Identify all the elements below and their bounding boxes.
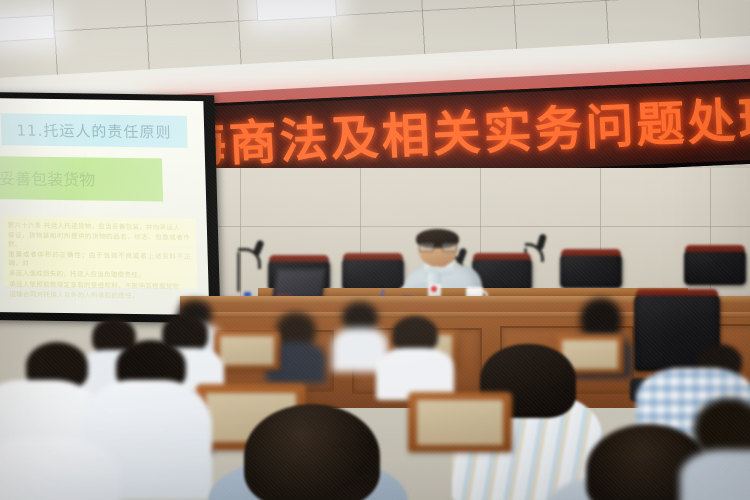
slide-body-line: 承运人造成损失的，托运人应当负赔偿责任。 <box>9 269 192 280</box>
slide-body-line: 承运人依照前款规定享有的受偿权利，不影响其根据货物 <box>9 280 192 291</box>
slide-subtitle-text: ①妥善包装货物 <box>0 165 96 191</box>
ceiling-lamp <box>0 15 55 43</box>
slide-title-band: 11.托运人的责任原则 <box>1 113 188 148</box>
slide-body-line: 保证，货物装船时所提供的货物的品名、标志、包数或者件数、 <box>8 231 191 251</box>
slide-body-line: 第六十六条 托运人托运货物，应当妥善包装，并向承运人 <box>7 221 190 232</box>
conference-hall-photo: 海商法及相关实务问题处理讲座 11.托运人的责任原则 ①妥善包装货物 第六十六条… <box>0 0 750 500</box>
audience-chair <box>214 330 280 370</box>
projection-screen-surface: 11.托运人的责任原则 ①妥善包装货物 第六十六条 托运人托运货物，应当妥善包装… <box>0 98 209 315</box>
slide-body-band: 第六十六条 托运人托运货物，应当妥善包装，并向承运人 保证，货物装船时所提供的货… <box>1 216 198 289</box>
audience-chair <box>408 392 512 452</box>
microphone <box>237 252 240 292</box>
slide-body-line: 运输合同对托运人以外的人所承担的责任。 <box>9 290 192 301</box>
slide-subtitle-band: ①妥善包装货物 <box>0 156 163 201</box>
projection-screen: 11.托运人的责任原则 ①妥善包装货物 第六十六条 托运人托运货物，应当妥善包装… <box>0 92 221 323</box>
slide-body-line: 重量或者体积的正确性；由于包装不良或者上述资料不正确，对 <box>8 250 191 270</box>
slide-title-text: 11.托运人的责任原则 <box>16 119 172 142</box>
glasses-icon <box>419 243 455 250</box>
